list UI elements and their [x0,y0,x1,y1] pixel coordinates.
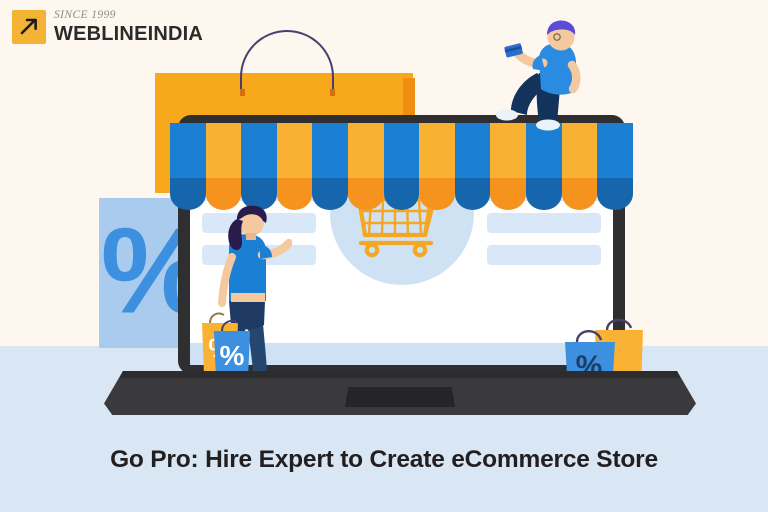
awning-stripe-body [170,123,206,185]
awning-stripe-tip [490,178,526,210]
awning-stripe [526,123,562,210]
store-awning [170,123,633,210]
awning-stripe [562,123,598,210]
awning-stripe-tip [419,178,455,210]
awning-stripe-body [312,123,348,185]
brand-logo[interactable]: SINCE 1999 WEBLINEINDIA [12,10,203,44]
awning-stripe-tip [526,178,562,210]
page-title: Go Pro: Hire Expert to Create eCommerce … [0,446,768,474]
awning-stripe [312,123,348,210]
awning-stripe-body [348,123,384,185]
awning-stripe [241,123,277,210]
awning-stripe-tip [384,178,420,210]
arrow-up-right-icon [12,10,46,44]
awning-stripe [455,123,491,210]
awning-stripe-body [206,123,242,185]
awning-stripe-body [597,123,633,185]
awning-stripe-tip [312,178,348,210]
awning-stripe-body [419,123,455,185]
placeholder-bar [487,245,601,265]
awning-stripe-tip [597,178,633,210]
laptop-base-lip [104,371,696,378]
touchpad [345,387,455,407]
awning-stripe [206,123,242,210]
placeholder-bar [487,213,601,233]
awning-stripe-body [277,123,313,185]
brand-name: WEBLINEINDIA [54,24,203,44]
awning-stripe-tip [455,178,491,210]
man-with-card [477,15,597,133]
awning-stripe [490,123,526,210]
brand-tagline: SINCE 1999 [54,10,203,22]
awning-stripe [277,123,313,210]
awning-stripe [348,123,384,210]
awning-stripe-body [241,123,277,185]
illustration-banner: SINCE 1999 WEBLINEINDIA % [0,0,768,512]
awning-stripe [170,123,206,210]
awning-stripe-body [384,123,420,185]
awning-stripe [384,123,420,210]
awning-stripe [597,123,633,210]
awning-stripe [419,123,455,210]
awning-stripe-tip [348,178,384,210]
svg-text:%: % [220,340,245,371]
awning-stripe-tip [562,178,598,210]
